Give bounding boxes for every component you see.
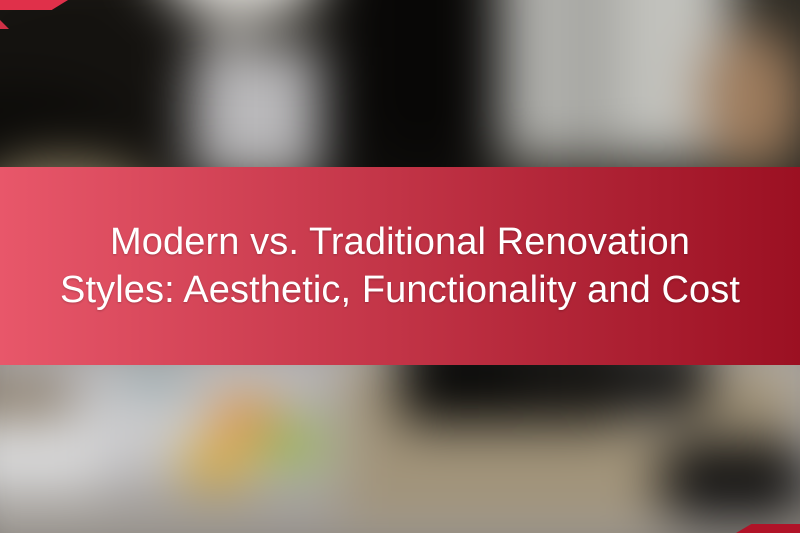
background-window-mullion	[582, 0, 598, 160]
page-title: Modern vs. Traditional Renovation Styles…	[55, 218, 745, 314]
background-dark-shape-bottom-right	[660, 440, 800, 520]
background-yellow-object	[182, 445, 252, 483]
background-green-object	[262, 425, 322, 465]
hero-title-banner: Modern vs. Traditional Renovation Styles…	[0, 167, 800, 365]
hero-banner-card: Modern vs. Traditional Renovation Styles…	[0, 0, 800, 533]
background-paper-sheet	[0, 415, 100, 495]
background-dark-shape-middle-secondary	[360, 0, 480, 160]
background-warm-shape-right	[702, 30, 800, 170]
background-lamp-stem	[218, 0, 240, 50]
